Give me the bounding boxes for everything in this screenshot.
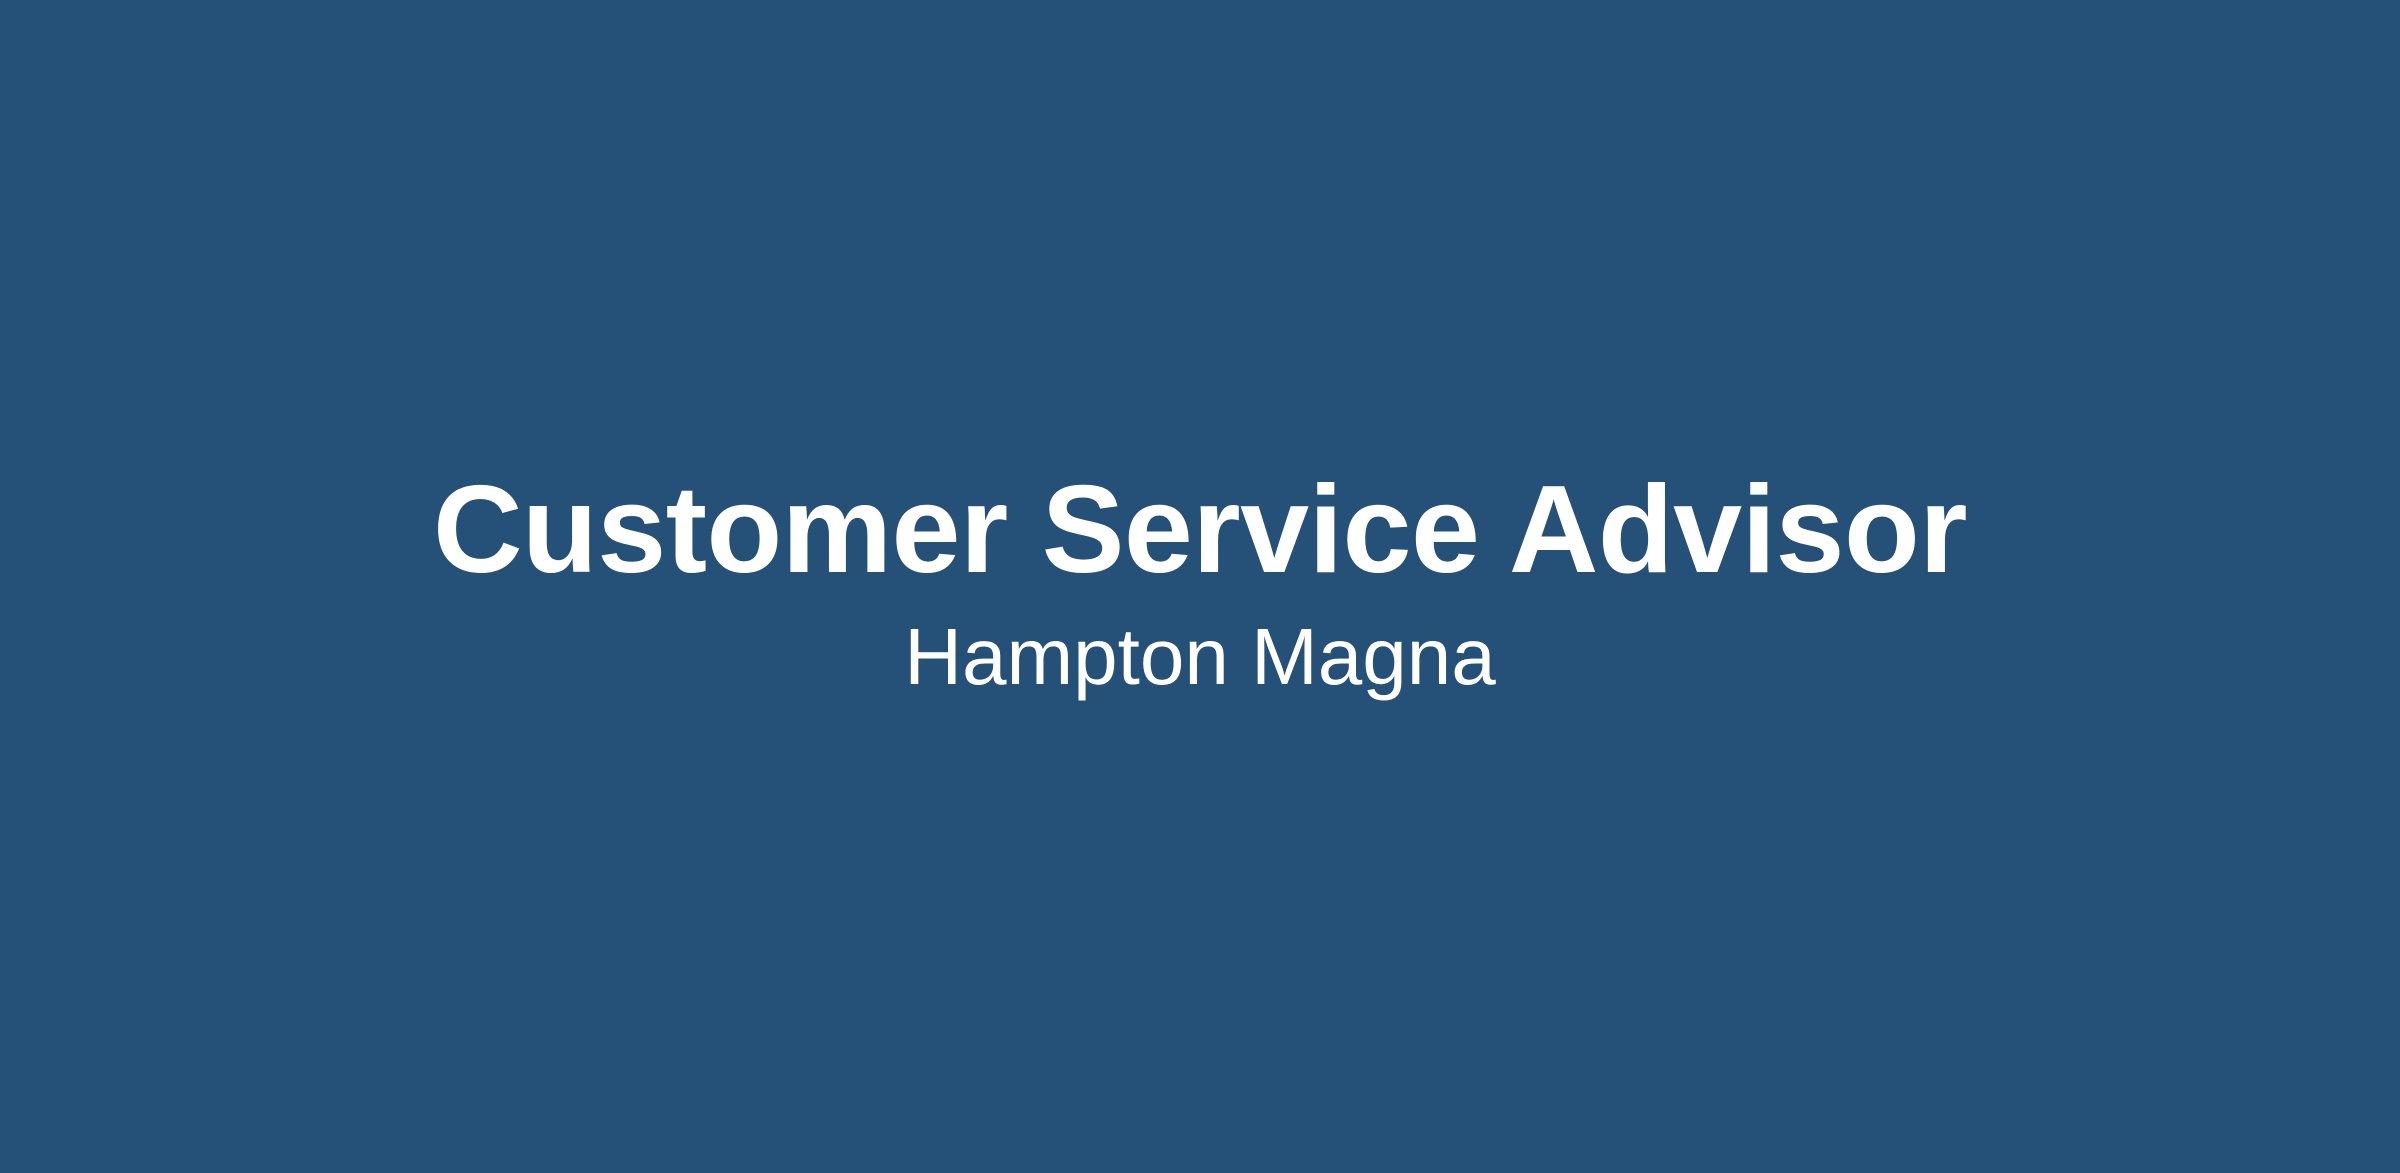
hero-banner: Customer Service Advisor Hampton Magna: [0, 0, 2400, 1173]
page-subtitle: Hampton Magna: [0, 613, 2400, 701]
hero-text-block: Customer Service Advisor Hampton Magna: [0, 466, 2400, 707]
page-title: Customer Service Advisor: [0, 466, 2400, 595]
